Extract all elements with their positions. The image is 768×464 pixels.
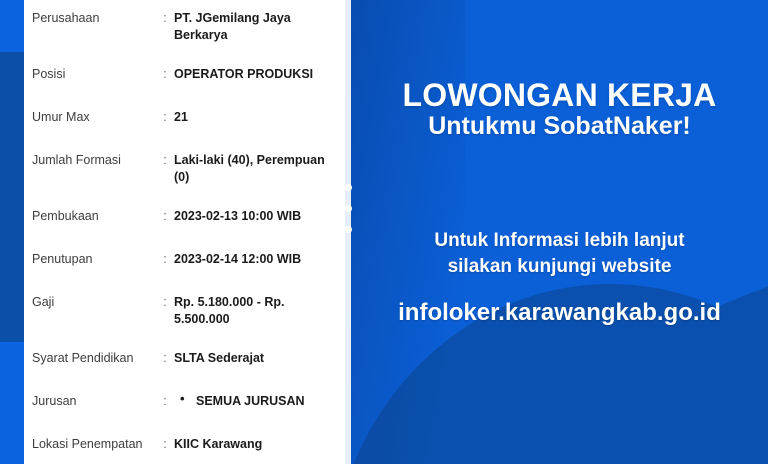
table-row: Jumlah Formasi:Laki-laki (40), Perempuan… — [24, 150, 351, 206]
poster-headline: LOWONGAN KERJA — [351, 78, 768, 112]
row-label: Umur Max — [24, 107, 156, 125]
promo-panel: LOWONGAN KERJA Untukmu SobatNaker! Untuk… — [351, 0, 768, 464]
row-value: SLTA Sederajat — [174, 348, 341, 367]
table-row: Gaji:Rp. 5.180.000 - Rp. 5.500.000 — [24, 292, 351, 348]
left-accent-strip — [0, 0, 24, 464]
table-row: Perusahaan:PT. JGemilang Jaya Berkarya — [24, 8, 351, 64]
table-row: Lokasi Penempatan:KIIC Karawang — [24, 434, 351, 464]
table-row: Pembukaan:2023-02-13 10:00 WIB — [24, 206, 351, 249]
row-value: 2023-02-14 12:00 WIB — [174, 249, 341, 268]
row-value: OPERATOR PRODUKSI — [174, 64, 341, 83]
row-label: Penutupan — [24, 249, 156, 267]
row-separator: : — [156, 64, 174, 82]
row-separator: : — [156, 206, 174, 224]
job-vacancy-poster: Perusahaan:PT. JGemilang Jaya BerkaryaPo… — [0, 0, 768, 464]
row-value: PT. JGemilang Jaya Berkarya — [174, 8, 341, 44]
left-accent-strip-shade-lower — [0, 342, 24, 464]
row-separator: : — [156, 150, 174, 168]
row-value: 21 — [174, 107, 341, 126]
row-label: Gaji — [24, 292, 156, 310]
table-row: Umur Max:21 — [24, 107, 351, 150]
row-label: Jumlah Formasi — [24, 150, 156, 168]
table-row: Jurusan:SEMUA JURUSAN — [24, 391, 351, 434]
row-separator: : — [156, 292, 174, 310]
row-label: Perusahaan — [24, 8, 156, 26]
row-separator: : — [156, 107, 174, 125]
row-value: Rp. 5.180.000 - Rp. 5.500.000 — [174, 292, 341, 328]
row-label: Syarat Pendidikan — [24, 348, 156, 366]
info-text-line-2: silakan kunjungi website — [351, 254, 768, 280]
poster-subheadline: Untukmu SobatNaker! — [351, 112, 768, 140]
job-details-table: Perusahaan:PT. JGemilang Jaya BerkaryaPo… — [24, 0, 351, 464]
row-value: Laki-laki (40), Perempuan (0) — [174, 150, 341, 186]
table-row: Syarat Pendidikan:SLTA Sederajat — [24, 348, 351, 391]
row-separator: : — [156, 249, 174, 267]
website-url: infoloker.karawangkab.go.id — [351, 298, 768, 328]
row-separator: : — [156, 434, 174, 452]
row-separator: : — [156, 348, 174, 366]
row-label: Jurusan — [24, 391, 156, 409]
table-row: Penutupan:2023-02-14 12:00 WIB — [24, 249, 351, 292]
info-text-line-1: Untuk Informasi lebih lanjut — [351, 228, 768, 254]
row-separator: : — [156, 391, 174, 409]
row-label: Pembukaan — [24, 206, 156, 224]
row-label: Lokasi Penempatan — [24, 434, 156, 452]
left-accent-strip-shade — [0, 52, 24, 342]
row-label: Posisi — [24, 64, 156, 82]
row-value: KIIC Karawang — [174, 434, 341, 453]
row-value: 2023-02-13 10:00 WIB — [174, 206, 341, 225]
job-details-card: Perusahaan:PT. JGemilang Jaya BerkaryaPo… — [24, 0, 351, 464]
table-row: Posisi:OPERATOR PRODUKSI — [24, 64, 351, 107]
row-value: SEMUA JURUSAN — [174, 391, 341, 410]
row-separator: : — [156, 8, 174, 26]
